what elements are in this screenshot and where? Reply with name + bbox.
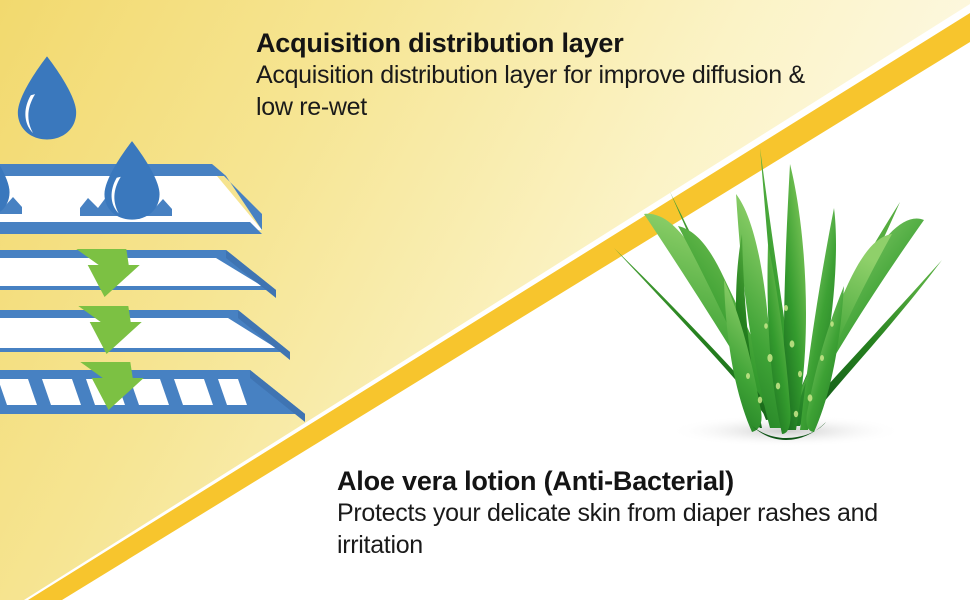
top-text-block: Acquisition distribution layer Acquisiti… bbox=[256, 28, 836, 124]
layer-bottom-perforated bbox=[0, 370, 305, 422]
bottom-text-block: Aloe vera lotion (Anti-Bacterial) Protec… bbox=[337, 466, 897, 562]
top-body-text: Acquisition distribution layer for impro… bbox=[256, 60, 836, 124]
layer-second bbox=[0, 250, 276, 298]
water-droplet-falling bbox=[18, 56, 76, 139]
layer-third bbox=[0, 310, 290, 360]
aloe-vera-plant-illustration bbox=[600, 108, 960, 463]
bottom-heading: Aloe vera lotion (Anti-Bacterial) bbox=[337, 466, 897, 497]
infographic-canvas: Acquisition distribution layer Acquisiti… bbox=[0, 0, 970, 600]
bottom-body-text: Protects your delicate skin from diaper … bbox=[337, 498, 897, 562]
top-heading: Acquisition distribution layer bbox=[256, 28, 836, 59]
